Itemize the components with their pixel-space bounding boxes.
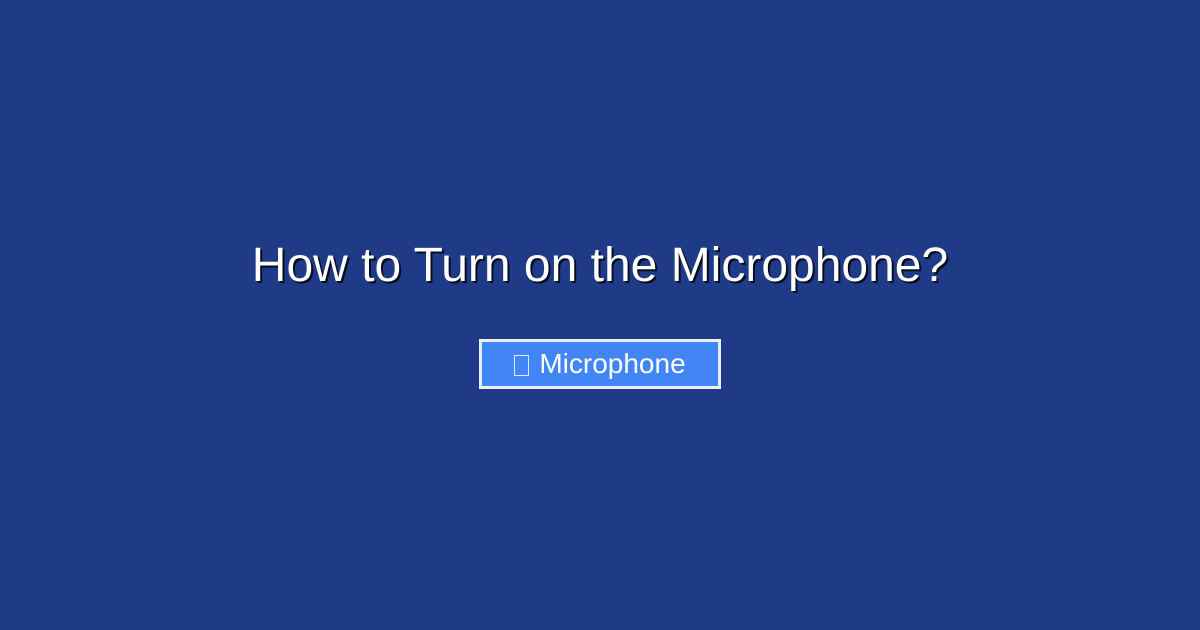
slide-canvas: How to Turn on the Microphone? Microphon… [0, 0, 1200, 630]
content-stack: How to Turn on the Microphone? Microphon… [0, 0, 1200, 630]
microphone-icon [514, 355, 529, 376]
microphone-button-label: Microphone [539, 350, 685, 378]
page-title: How to Turn on the Microphone? [252, 241, 948, 291]
microphone-button[interactable]: Microphone [479, 339, 721, 389]
